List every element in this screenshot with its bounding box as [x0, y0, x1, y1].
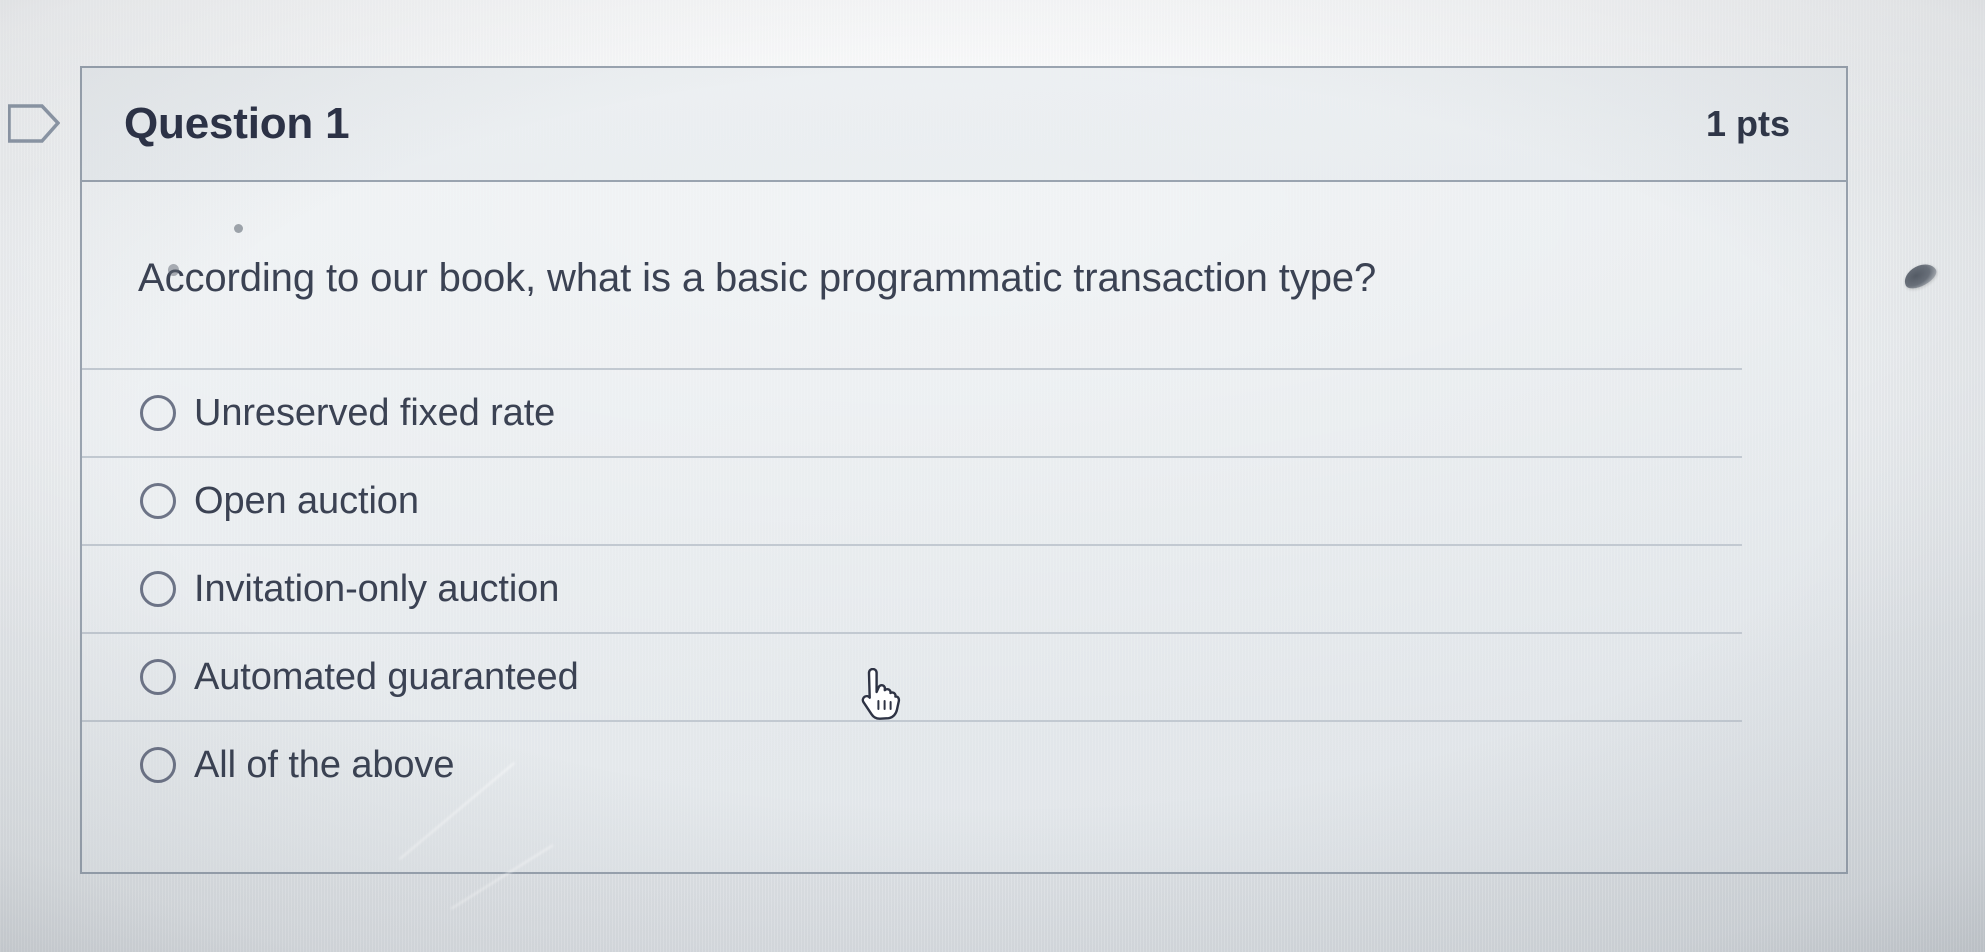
- answer-option-label: Unreserved fixed rate: [194, 394, 555, 432]
- question-card-header: Question 1 1 pts: [82, 68, 1846, 182]
- radio-unchecked-icon[interactable]: [140, 659, 176, 695]
- radio-unchecked-icon[interactable]: [140, 571, 176, 607]
- answer-option-row[interactable]: Open auction: [82, 456, 1742, 544]
- answer-option-label: Automated guaranteed: [194, 658, 579, 696]
- question-title: Question 1: [124, 99, 349, 149]
- points-badge: 1 pts: [1706, 103, 1802, 145]
- answer-option-label: Invitation-only auction: [194, 570, 559, 608]
- answer-option-row[interactable]: All of the above: [82, 720, 1742, 808]
- answer-option-row[interactable]: Unreserved fixed rate: [82, 368, 1742, 456]
- question-prompt-text: According to our book, what is a basic p…: [82, 182, 1846, 302]
- answer-option-row[interactable]: Invitation-only auction: [82, 544, 1742, 632]
- question-card: Question 1 1 pts According to our book, …: [80, 66, 1848, 874]
- radio-unchecked-icon[interactable]: [140, 747, 176, 783]
- answer-options-list: Unreserved fixed rate Open auction Invit…: [82, 368, 1742, 808]
- question-card-body: According to our book, what is a basic p…: [82, 182, 1846, 808]
- answer-option-label: Open auction: [194, 482, 419, 520]
- radio-unchecked-icon[interactable]: [140, 395, 176, 431]
- answer-option-label: All of the above: [194, 746, 454, 784]
- radio-unchecked-icon[interactable]: [140, 483, 176, 519]
- flag-outline-icon: [8, 100, 60, 146]
- answer-option-row[interactable]: Automated guaranteed: [82, 632, 1742, 720]
